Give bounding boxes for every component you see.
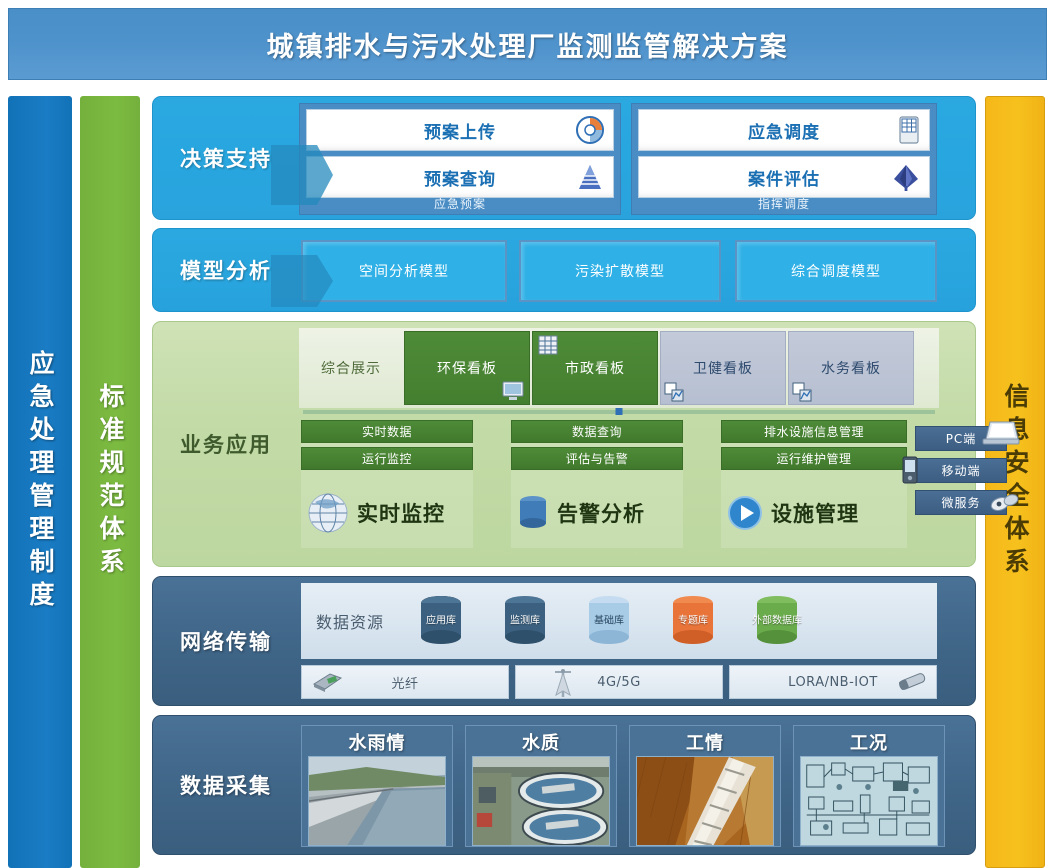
database-thematic[interactable]: 专题库 bbox=[667, 595, 719, 647]
decision-item-emergency-dispatch-label: 应急调度 bbox=[748, 118, 820, 143]
rail-emergency-management: 应急处理管理制度 bbox=[8, 96, 72, 868]
transmission-link-lora-label: LORA/NB-IOT bbox=[788, 675, 878, 690]
business-pill-operation-monitoring[interactable]: 运行监控 bbox=[301, 447, 473, 470]
page-title: 城镇排水与污水处理厂监测监管解决方案 bbox=[267, 25, 789, 64]
dashboard-tile-water-label: 水务看板 bbox=[821, 358, 881, 378]
upload-plan-icon bbox=[575, 115, 605, 145]
terminal-microservice[interactable]: 微服务 bbox=[915, 490, 1007, 515]
decision-item-plan-upload[interactable]: 预案上传 bbox=[306, 109, 614, 151]
business-main-facility-management[interactable]: 设施管理 bbox=[721, 482, 907, 544]
dashboard-tile-municipal-label: 市政看板 bbox=[565, 358, 625, 378]
decision-item-plan-query[interactable]: 预案查询 bbox=[306, 156, 614, 198]
layer-network-transmission-label: 网络传输 bbox=[153, 577, 299, 705]
collection-tile-water-rain-label: 水雨情 bbox=[304, 728, 450, 756]
scada-schematic-photo bbox=[800, 756, 938, 846]
business-main-alarm-analysis-label: 告警分析 bbox=[557, 498, 645, 528]
layer-data-collection-label: 数据采集 bbox=[153, 716, 299, 854]
decision-item-emergency-dispatch[interactable]: 应急调度 bbox=[638, 109, 930, 151]
transmission-link-fiber[interactable]: 光纤 bbox=[301, 665, 509, 699]
decision-item-case-assessment-label: 案件评估 bbox=[748, 165, 820, 190]
chart-icon bbox=[792, 382, 812, 402]
model-item-integrated-dispatch[interactable]: 综合调度模型 bbox=[735, 240, 937, 302]
collection-tile-water-quality[interactable]: 水质 bbox=[465, 725, 617, 847]
transmission-link-cellular-label: 4G/5G bbox=[597, 675, 641, 690]
business-main-realtime-monitoring[interactable]: 实时监控 bbox=[301, 482, 473, 544]
terminal-mobile[interactable]: 移动端 bbox=[915, 458, 1007, 483]
transmission-link-fiber-label: 光纤 bbox=[391, 673, 418, 692]
database-thematic-label: 专题库 bbox=[667, 615, 719, 627]
monitor-icon bbox=[501, 380, 525, 402]
database-application[interactable]: 应用库 bbox=[415, 595, 467, 647]
decision-item-plan-upload-label: 预案上传 bbox=[424, 118, 496, 143]
database-icon bbox=[515, 492, 551, 534]
layer-network-transmission: 网络传输 数据资源 应用库 监测库 bbox=[152, 576, 976, 706]
collection-tile-operating-condition[interactable]: 工况 bbox=[793, 725, 945, 847]
pyramid-icon bbox=[575, 162, 605, 192]
decision-group-emergency-plan: 预案上传 预案查询 bbox=[299, 103, 621, 215]
collection-tile-water-quality-label: 水质 bbox=[468, 728, 614, 756]
business-pill-realtime-data[interactable]: 实时数据 bbox=[301, 420, 473, 443]
layer-data-collection: 数据采集 水雨情 水质 bbox=[152, 715, 976, 855]
layer-model-analysis: 模型分析 空间分析模型 污染扩散模型 综合调度模型 bbox=[152, 228, 976, 312]
chart-icon bbox=[664, 382, 684, 402]
database-monitoring[interactable]: 监测库 bbox=[499, 595, 551, 647]
database-application-label: 应用库 bbox=[415, 615, 467, 627]
terminal-pc-label: PC端 bbox=[946, 430, 977, 447]
building-icon bbox=[537, 334, 559, 356]
dashboard-tile-environment-label: 环保看板 bbox=[437, 358, 497, 378]
layer-business-application: 业务应用 综合展示 环保看板 市政看板 bbox=[152, 321, 976, 567]
database-monitoring-label: 监测库 bbox=[499, 615, 551, 627]
sedimentation-tanks-photo bbox=[472, 756, 610, 846]
database-external-label: 外部数据库 bbox=[751, 615, 803, 627]
rail-standards-system-label: 标准规范体系 bbox=[92, 383, 128, 581]
data-resource-strip: 数据资源 应用库 监测库 bbox=[301, 583, 937, 659]
business-pill-operation-maintenance[interactable]: 运行维护管理 bbox=[721, 447, 907, 470]
microservice-icon bbox=[988, 491, 1022, 515]
play-icon bbox=[725, 493, 765, 533]
dashboard-tile-health[interactable]: 卫健看板 bbox=[660, 331, 786, 405]
riverbank-photo bbox=[308, 756, 446, 846]
decision-group-emergency-plan-label: 应急预案 bbox=[300, 194, 620, 212]
dashboard-tile-health-label: 卫健看板 bbox=[693, 358, 753, 378]
sensor-icon bbox=[894, 668, 930, 694]
pipeline-trench-photo bbox=[636, 756, 774, 846]
dashboard-tile-municipal[interactable]: 市政看板 bbox=[532, 331, 658, 405]
decision-group-command-dispatch: 应急调度 案件评估 bbox=[631, 103, 937, 215]
business-main-realtime-monitoring-label: 实时监控 bbox=[357, 498, 445, 528]
collection-tile-operating-condition-label: 工况 bbox=[796, 728, 942, 756]
business-pill-drainage-facility-info[interactable]: 排水设施信息管理 bbox=[721, 420, 907, 443]
diamond-tree-icon bbox=[891, 162, 921, 192]
terminal-pc[interactable]: PC端 bbox=[915, 426, 1007, 451]
data-resource-label: 数据资源 bbox=[301, 609, 399, 633]
database-basic-label: 基础库 bbox=[583, 615, 635, 627]
layer-decision-support-label: 决策支持 bbox=[153, 97, 299, 219]
laptop-icon bbox=[982, 419, 1020, 447]
business-column-facility: 排水设施信息管理 运行维护管理 设施管理 bbox=[721, 420, 907, 548]
fiber-optic-icon bbox=[310, 670, 344, 694]
decision-item-plan-query-label: 预案查询 bbox=[424, 165, 496, 190]
business-column-monitoring: 实时数据 运行监控 实时监控 bbox=[301, 420, 473, 548]
architecture-stack: 决策支持 预案上传 预案查询 bbox=[152, 96, 976, 868]
dashboard-tile-water[interactable]: 水务看板 bbox=[788, 331, 914, 405]
collection-tile-project-status[interactable]: 工情 bbox=[629, 725, 781, 847]
transmission-link-lora[interactable]: LORA/NB-IOT bbox=[729, 665, 937, 699]
business-pill-data-query[interactable]: 数据查询 bbox=[511, 420, 683, 443]
database-basic[interactable]: 基础库 bbox=[583, 595, 635, 647]
mobile-phone-icon bbox=[900, 455, 920, 485]
transmission-link-cellular[interactable]: 4G/5G bbox=[515, 665, 723, 699]
transmission-link-list: 光纤 4G/5G LORA/NB-IOT bbox=[301, 665, 937, 699]
business-main-alarm-analysis[interactable]: 告警分析 bbox=[511, 482, 683, 544]
dashboard-strip-label: 综合展示 bbox=[299, 328, 403, 408]
globe-icon bbox=[305, 490, 351, 536]
collection-tile-project-status-label: 工情 bbox=[632, 728, 778, 756]
grid-device-icon bbox=[897, 115, 921, 145]
terminal-mobile-label: 移动端 bbox=[941, 462, 980, 479]
collection-tile-water-rain[interactable]: 水雨情 bbox=[301, 725, 453, 847]
business-pill-assessment-alarm[interactable]: 评估与告警 bbox=[511, 447, 683, 470]
antenna-icon bbox=[552, 667, 574, 699]
business-main-facility-management-label: 设施管理 bbox=[771, 498, 859, 528]
business-column-alarm: 数据查询 评估与告警 告警分析 bbox=[511, 420, 683, 548]
layer-model-analysis-label: 模型分析 bbox=[153, 229, 299, 311]
layer-business-application-label: 业务应用 bbox=[153, 322, 299, 566]
rail-standards-system: 标准规范体系 bbox=[80, 96, 140, 868]
terminal-microservice-label: 微服务 bbox=[941, 494, 980, 511]
rail-emergency-management-label: 应急处理管理制度 bbox=[22, 350, 58, 614]
dashboard-underline bbox=[303, 410, 935, 414]
layer-decision-support: 决策支持 预案上传 预案查询 bbox=[152, 96, 976, 220]
model-item-pollution-diffusion[interactable]: 污染扩散模型 bbox=[519, 240, 721, 302]
decision-group-command-dispatch-label: 指挥调度 bbox=[632, 194, 936, 212]
dashboard-tile-environment[interactable]: 环保看板 bbox=[404, 331, 530, 405]
database-external[interactable]: 外部数据库 bbox=[751, 595, 803, 647]
dashboard-strip: 综合展示 环保看板 市政看板 bbox=[299, 328, 939, 408]
decision-item-case-assessment[interactable]: 案件评估 bbox=[638, 156, 930, 198]
page-title-bar: 城镇排水与污水处理厂监测监管解决方案 bbox=[8, 8, 1047, 80]
terminal-list: PC端 移动端 bbox=[915, 426, 977, 522]
